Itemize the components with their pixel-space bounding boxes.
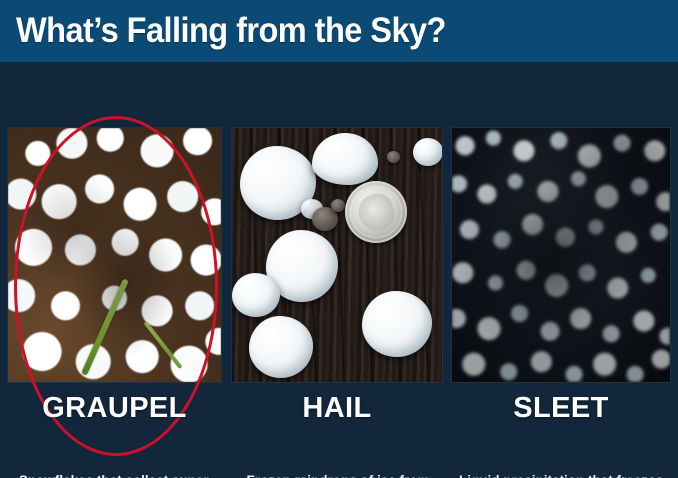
hailstone	[312, 133, 378, 185]
hailstone	[413, 138, 442, 166]
hail-photo-panel	[232, 128, 442, 382]
sleet-shadow-overlay	[452, 128, 670, 382]
caption-sleet: Liquid precipitation that freezes before…	[450, 471, 672, 478]
page-title: What’s Falling from the Sky?	[16, 9, 621, 53]
caption-graupel: Snowflakes that collect super-cooled wat…	[10, 471, 222, 478]
graupel-shadow-overlay	[8, 128, 221, 382]
graupel-photo-panel	[8, 128, 221, 382]
category-label-graupel: GRAUPEL	[8, 392, 221, 425]
title-band: What’s Falling from the Sky?	[0, 0, 678, 62]
pebble	[331, 199, 345, 212]
content-area: GRAUPEL HAIL SLEET Snowflakes that colle…	[0, 62, 678, 478]
category-label-hail: HAIL	[232, 392, 442, 425]
hailstone	[232, 273, 280, 317]
hailstone	[362, 291, 432, 357]
caption-hail: Frozen raindrops of ice from thunderstor…	[233, 471, 443, 478]
hailstone	[249, 316, 313, 378]
sleet-photo-panel	[452, 128, 670, 382]
category-label-sleet: SLEET	[452, 392, 670, 425]
infographic-slide: What’s Falling from the Sky?	[0, 0, 678, 478]
